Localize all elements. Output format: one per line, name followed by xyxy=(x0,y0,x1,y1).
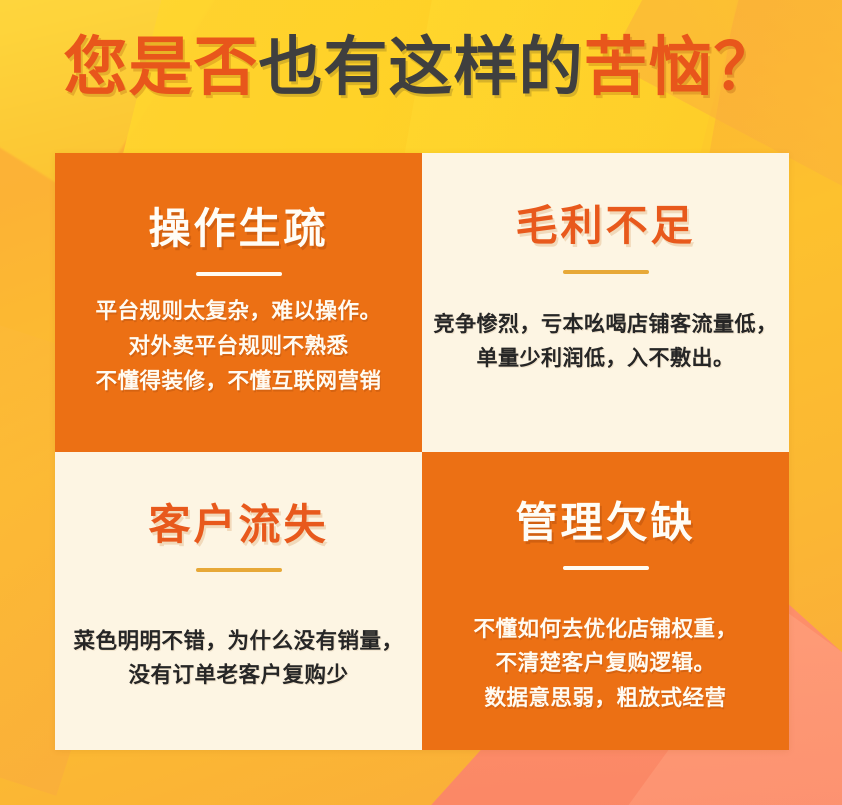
card-body-line: 数据意思弱，粗放式经营 xyxy=(473,681,737,716)
card-title: 毛利不足 xyxy=(515,205,695,247)
card-divider xyxy=(563,270,649,274)
card-body: 不懂如何去优化店铺权重， 不清楚客户复购逻辑。 数据意思弱，粗放式经营 xyxy=(473,612,737,716)
card-body-line: 没有订单老客户复购少 xyxy=(73,658,403,693)
card-title: 客户流失 xyxy=(148,504,328,546)
card-divider xyxy=(563,566,649,570)
card-body: 菜色明明不错，为什么没有销量， 没有订单老客户复购少 xyxy=(73,624,403,694)
card-body-line: 不懂如何去优化店铺权重， xyxy=(473,612,737,647)
promo-poster: 您是否 也有这样的 苦恼？ 操作生疏 平台规则太复杂，难以操作。 对外卖平台规则… xyxy=(0,0,842,805)
card-body-line: 平台规则太复杂，难以操作。 xyxy=(95,294,381,329)
card-body-line: 竞争惨烈，亏本吆喝店铺客流量低， xyxy=(434,308,778,342)
pain-point-grid: 操作生疏 平台规则太复杂，难以操作。 对外卖平台规则不熟悉 不懂得装修，不懂互联… xyxy=(55,153,789,750)
card-divider xyxy=(196,272,282,276)
card-body: 竞争惨烈，亏本吆喝店铺客流量低， 单量少利润低，入不敷出。 xyxy=(434,308,778,376)
card-body-line: 不清楚客户复购逻辑。 xyxy=(473,646,737,681)
pain-point-card-operation-unfamiliar[interactable]: 操作生疏 平台规则太复杂，难以操作。 对外卖平台规则不熟悉 不懂得装修，不懂互联… xyxy=(55,153,422,452)
card-body-line: 不懂得装修，不懂互联网营销 xyxy=(95,364,381,399)
pain-point-card-customer-churn[interactable]: 客户流失 菜色明明不错，为什么没有销量， 没有订单老客户复购少 xyxy=(55,452,422,751)
page-title-segment-1: 您是否 xyxy=(64,35,259,99)
card-title: 管理欠缺 xyxy=(515,502,695,544)
pain-point-card-gross-margin-insufficient[interactable]: 毛利不足 竞争惨烈，亏本吆喝店铺客流量低， 单量少利润低，入不敷出。 xyxy=(422,153,789,452)
page-title-segment-2: 也有这样的 xyxy=(259,35,584,99)
page-title-segment-3: 苦恼？ xyxy=(584,35,779,99)
pain-point-card-management-lacking[interactable]: 管理欠缺 不懂如何去优化店铺权重， 不清楚客户复购逻辑。 数据意思弱，粗放式经营 xyxy=(422,452,789,751)
card-divider xyxy=(196,568,282,572)
card-body-line: 对外卖平台规则不熟悉 xyxy=(95,329,381,364)
card-title: 操作生疏 xyxy=(148,208,328,250)
card-body-line: 菜色明明不错，为什么没有销量， xyxy=(73,624,403,659)
card-body-line: 单量少利润低，入不敷出。 xyxy=(434,342,778,376)
page-title: 您是否 也有这样的 苦恼？ xyxy=(0,22,842,112)
card-body: 平台规则太复杂，难以操作。 对外卖平台规则不熟悉 不懂得装修，不懂互联网营销 xyxy=(95,294,381,398)
